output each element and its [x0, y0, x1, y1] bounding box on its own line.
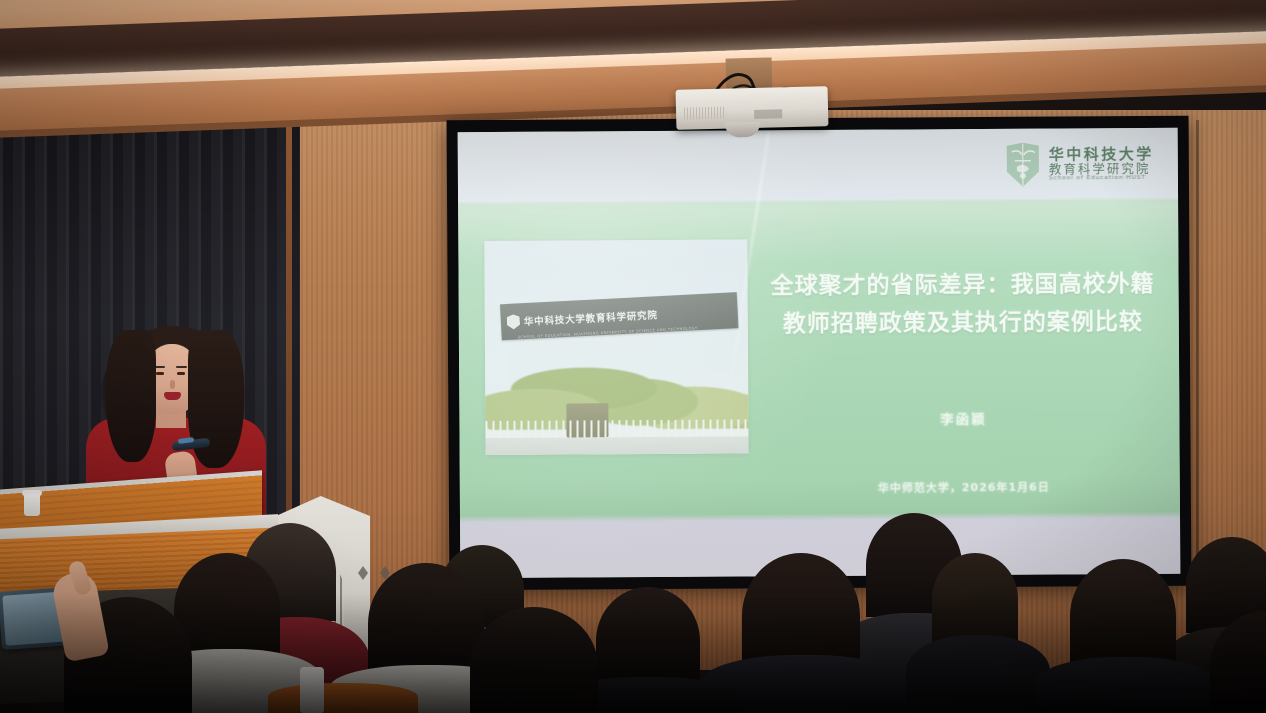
hust-shield-icon — [1005, 142, 1041, 186]
water-bottle — [300, 667, 324, 713]
audience-head — [1070, 559, 1176, 673]
university-logo: 华中科技大学 教育科学研究院 School of Education·HUST — [1005, 142, 1154, 187]
presenter-mouth — [164, 392, 181, 400]
presenter-brow-right — [176, 366, 187, 368]
projector-label — [754, 109, 782, 119]
audience-rows — [0, 453, 1266, 713]
audience-head — [932, 553, 1018, 645]
photo-trees — [484, 338, 748, 430]
audience-shoulders — [1036, 657, 1216, 713]
audience-shoulders — [906, 635, 1050, 713]
ceiling-projector — [676, 86, 829, 130]
audience-head — [470, 607, 598, 713]
banner-text: 华中科技大学教育科学研究院 — [523, 307, 657, 328]
projector-vent — [684, 107, 726, 120]
logo-university-name: 华中科技大学 — [1049, 146, 1154, 163]
presenter-hair-left — [106, 330, 156, 462]
presenter-eye-left — [156, 372, 164, 375]
slide-title-line-2: 教师招聘政策及其执行的案例比较 — [768, 303, 1157, 343]
slide-campus-photo: 华中科技大学教育科学研究院 SCHOOL OF EDUCATION, HUAZH… — [484, 240, 748, 456]
slide-title: 全球聚才的省际差异：我国高校外籍 教师招聘政策及其执行的案例比较 — [768, 266, 1157, 343]
presenter-nose — [170, 380, 175, 389]
presenter-eye-right — [177, 372, 185, 375]
audience-shoulders — [268, 683, 418, 713]
banner-shield-icon — [506, 314, 520, 330]
lecture-hall-scene: 华中科技大学 教育科学研究院 School of Education·HUST — [0, 0, 1266, 713]
slide-header-band: 华中科技大学 教育科学研究院 School of Education·HUST — [458, 128, 1178, 204]
slide-title-line-1: 全球聚才的省际差异：我国高校外籍 — [768, 266, 1157, 306]
slide-author: 李函颖 — [769, 407, 1158, 429]
logo-department-en: School of Education·HUST — [1049, 176, 1154, 182]
